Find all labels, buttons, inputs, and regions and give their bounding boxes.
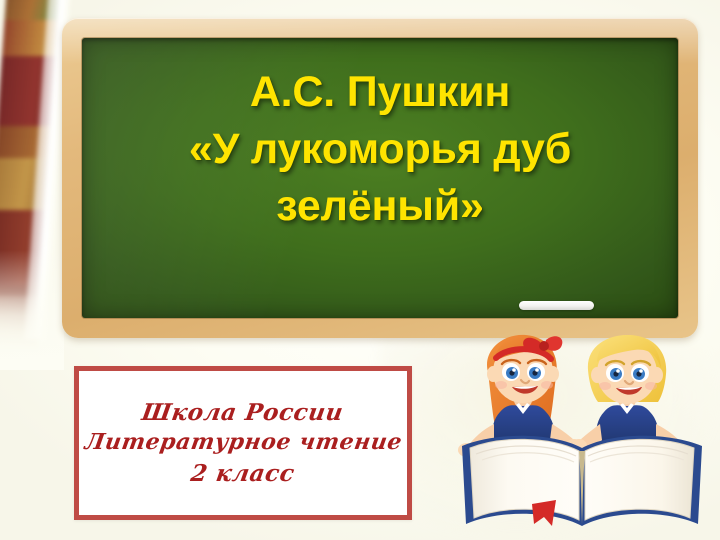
caption-line-subject: Литературное чтение [82,430,403,456]
presentation-slide: А.С. Пушкин «У лукоморья дуб зелёный» Шк… [0,0,720,540]
caption-line-grade: 2 класс [189,460,297,487]
caption-line-program: Школа России [140,399,345,426]
open-book [462,436,702,526]
boy-left-ear [591,367,603,383]
girl-left-ear [487,366,499,382]
caption-box: Школа России Литературное чтение 2 класс [74,366,412,520]
chalkboard-surface: А.С. Пушкин «У лукоморья дуб зелёный» [82,38,678,318]
chalk-icon [519,301,594,310]
boy-right-glint [639,369,643,373]
boy-left-blush [599,382,611,390]
girl-right-ear [547,366,559,382]
boy-right-ear [651,367,663,383]
chalkboard-frame: А.С. Пушкин «У лукоморья дуб зелёный» [62,18,698,338]
girl-right-glint [535,368,539,372]
girl-right-blush [541,381,553,389]
boy-right-blush [645,382,657,390]
left-strip-fade [0,250,64,370]
girl-left-glint [512,368,516,372]
slide-title: А.С. Пушкин «У лукоморья дуб зелёный» [82,64,678,234]
girl-left-blush [495,381,507,389]
boy-left-glint [616,369,620,373]
girl-bow-icon [523,336,562,351]
children-with-book-illustration [452,328,720,540]
book-bookmark-icon [532,500,556,526]
illustration-svg [452,328,720,540]
